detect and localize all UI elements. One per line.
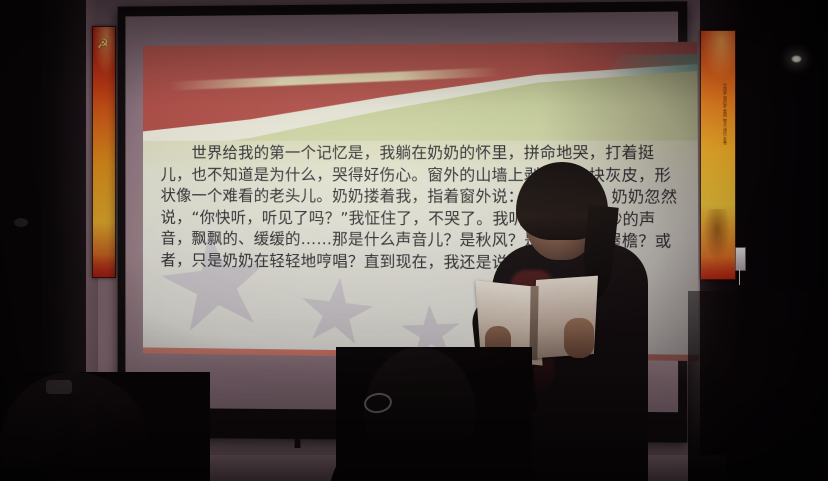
screenshot-root: ☭ 中国梦 我的梦 爱国 敬业 诚信 友善 世界给我的第一个记忆是，我 <box>0 0 828 481</box>
audience-shoulders <box>0 468 220 481</box>
audience-member-center <box>336 347 532 481</box>
wall-switch[interactable] <box>735 247 746 271</box>
hair-clip-icon <box>46 380 72 394</box>
presenter-hand-right <box>564 318 594 358</box>
wall-spot-left <box>14 218 28 227</box>
banner-figure-right <box>704 209 730 261</box>
hammer-sickle-icon: ☭ <box>97 37 111 53</box>
ceiling-light-icon <box>791 55 802 63</box>
audience-shoulders <box>330 439 538 481</box>
screen-leg <box>295 439 301 448</box>
audience-member-left <box>0 372 210 481</box>
banner-ribbon-right <box>701 257 735 279</box>
wall-banner-right: 中国梦 我的梦 爱国 敬业 诚信 友善 <box>700 30 736 280</box>
audience-head <box>0 372 150 481</box>
wall-banner-left: ☭ <box>92 26 116 278</box>
foreground-shadow-right <box>688 291 828 481</box>
banner-glow-right <box>701 31 735 79</box>
banner-ribbon-left <box>93 255 115 277</box>
